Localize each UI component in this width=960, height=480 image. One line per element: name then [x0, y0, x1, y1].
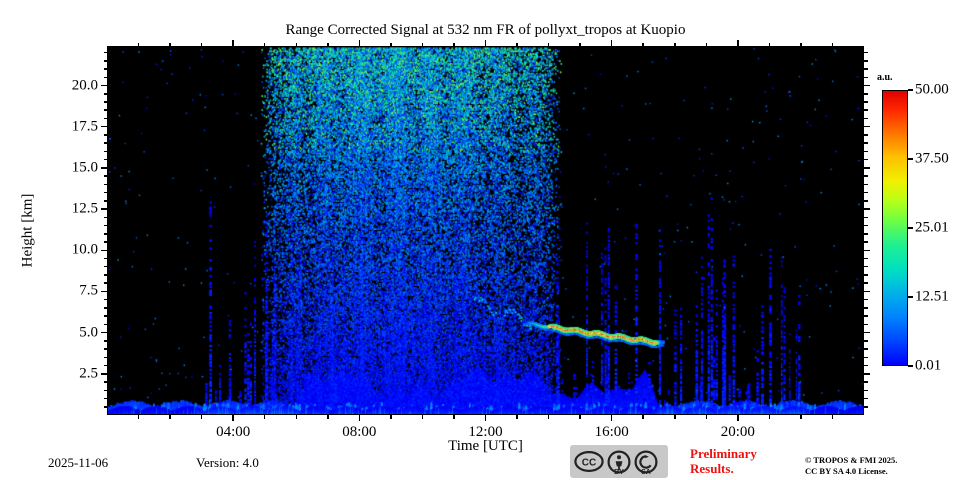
y-tick-minor — [104, 200, 108, 202]
y-tick-minor — [104, 93, 108, 95]
x-tick-minor — [832, 415, 834, 419]
y-tick-minor — [864, 184, 868, 186]
x-tick-minor — [264, 43, 266, 47]
y-tick-minor — [104, 324, 108, 326]
y-tick-minor — [864, 175, 868, 177]
x-tick-minor — [769, 43, 771, 47]
x-tick-major — [485, 415, 487, 421]
y-tick-minor — [104, 77, 108, 79]
y-tick-minor — [104, 307, 108, 309]
y-tick-minor — [104, 192, 108, 194]
x-tick-minor — [422, 415, 424, 419]
x-tick-minor — [390, 43, 392, 47]
y-tick-major — [101, 167, 107, 169]
colorbar-tick — [908, 227, 913, 229]
cc-sa-label: SA — [641, 469, 651, 476]
x-tick-major — [232, 40, 234, 46]
y-tick-minor — [864, 282, 868, 284]
y-tick-minor — [864, 315, 868, 317]
colorbar-tick-label: 12.51 — [915, 288, 949, 305]
y-tick-minor — [864, 340, 868, 342]
y-tick-minor — [104, 217, 108, 219]
x-tick-minor — [169, 415, 171, 419]
y-tick-minor — [864, 60, 868, 62]
y-tick-minor — [104, 365, 108, 367]
y-tick-minor — [864, 299, 868, 301]
y-tick-minor — [104, 142, 108, 144]
y-tick-minor — [864, 151, 868, 153]
x-tick-major — [359, 40, 361, 46]
plot-area — [107, 46, 864, 415]
y-tick-minor — [104, 315, 108, 317]
y-tick-minor — [864, 101, 868, 103]
x-tick-minor — [548, 415, 550, 419]
y-tick-minor — [104, 175, 108, 177]
x-tick-minor — [264, 415, 266, 419]
x-tick-minor — [642, 415, 644, 419]
y-tick-minor — [864, 348, 868, 350]
x-tick-minor — [516, 415, 518, 419]
lidar-quicklook-figure: Range Corrected Signal at 532 nm FR of p… — [0, 0, 960, 480]
x-tick-major — [611, 40, 613, 46]
y-tick-label: 10.0 — [72, 242, 98, 259]
y-tick-minor — [864, 134, 868, 136]
y-axis-title-label: Height [km] — [20, 194, 37, 268]
y-tick-minor — [864, 159, 868, 161]
colorbar-tick — [908, 296, 913, 298]
x-tick-minor — [769, 415, 771, 419]
y-tick-minor — [104, 159, 108, 161]
y-tick-minor — [104, 118, 108, 120]
y-tick-minor — [104, 274, 108, 276]
x-tick-major — [737, 415, 739, 421]
x-tick-minor — [832, 43, 834, 47]
x-tick-minor — [296, 415, 298, 419]
y-tick-minor — [864, 258, 868, 260]
x-tick-minor — [453, 415, 455, 419]
y-tick-label: 15.0 — [72, 159, 98, 176]
x-tick-minor — [296, 43, 298, 47]
x-tick-major — [232, 415, 234, 421]
y-tick-label: 20.0 — [72, 77, 98, 94]
x-tick-minor — [800, 415, 802, 419]
y-tick-minor — [104, 340, 108, 342]
y-tick-label: 7.5 — [79, 283, 98, 300]
x-tick-minor — [800, 43, 802, 47]
copyright-line-2: CC BY SA 4.0 License. — [805, 466, 897, 477]
x-tick-major — [611, 415, 613, 421]
y-tick-minor — [104, 266, 108, 268]
y-tick-minor — [104, 258, 108, 260]
x-tick-minor — [327, 415, 329, 419]
y-tick-major — [101, 85, 107, 87]
cc-circle-icon: CC — [574, 451, 604, 472]
x-tick-major — [737, 40, 739, 46]
x-tick-minor — [706, 415, 708, 419]
x-tick-minor — [453, 43, 455, 47]
x-tick-minor — [674, 43, 676, 47]
y-tick-minor — [864, 233, 868, 235]
x-tick-minor — [548, 43, 550, 47]
y-tick-minor — [864, 52, 868, 54]
y-tick-minor — [104, 282, 108, 284]
y-tick-minor — [864, 365, 868, 367]
page-title: Range Corrected Signal at 532 nm FR of p… — [107, 22, 864, 39]
x-tick-minor — [138, 43, 140, 47]
heatmap-canvas — [108, 47, 864, 415]
y-tick-minor — [864, 241, 868, 243]
y-tick-minor — [104, 233, 108, 235]
x-tick-minor — [201, 43, 203, 47]
y-tick-minor — [104, 390, 108, 392]
y-tick-minor — [864, 77, 868, 79]
cc-logo-icon: CC — [574, 451, 604, 472]
y-tick-minor — [864, 109, 868, 111]
colorbar — [882, 90, 908, 366]
y-tick-major — [101, 208, 107, 210]
y-tick-minor — [104, 398, 108, 400]
y-tick-minor — [864, 307, 868, 309]
y-tick-minor — [104, 299, 108, 301]
y-tick-major — [864, 373, 870, 375]
y-tick-minor — [104, 225, 108, 227]
x-tick-minor — [579, 43, 581, 47]
y-tick-minor — [104, 109, 108, 111]
y-axis-title: Height [km] — [18, 46, 38, 415]
preliminary-line-1: Preliminary — [690, 447, 776, 462]
y-tick-minor — [864, 381, 868, 383]
x-tick-minor — [422, 43, 424, 47]
y-tick-minor — [864, 217, 868, 219]
y-tick-major — [864, 126, 870, 128]
y-tick-label: 2.5 — [79, 365, 98, 382]
colorbar-unit-label: a.u. — [877, 72, 893, 83]
y-tick-minor — [864, 200, 868, 202]
y-tick-minor — [104, 406, 108, 408]
x-tick-minor — [327, 43, 329, 47]
footer-version: Version: 4.0 — [196, 455, 259, 471]
y-tick-major — [101, 291, 107, 293]
y-tick-minor — [104, 184, 108, 186]
x-tick-minor — [642, 43, 644, 47]
y-tick-minor — [864, 274, 868, 276]
y-tick-minor — [104, 357, 108, 359]
x-tick-minor — [169, 43, 171, 47]
y-tick-major — [101, 373, 107, 375]
x-tick-minor — [516, 43, 518, 47]
y-tick-minor — [864, 192, 868, 194]
colorbar-tick-label: 0.01 — [915, 358, 941, 375]
y-tick-minor — [864, 406, 868, 408]
y-tick-minor — [864, 68, 868, 70]
y-tick-minor — [864, 266, 868, 268]
y-tick-minor — [104, 381, 108, 383]
y-tick-minor — [864, 142, 868, 144]
y-tick-minor — [864, 357, 868, 359]
y-tick-major — [864, 167, 870, 169]
y-tick-major — [101, 250, 107, 252]
x-tick-minor — [579, 415, 581, 419]
y-tick-minor — [864, 118, 868, 120]
colorbar-tick — [908, 365, 913, 367]
colorbar-tick-label: 50.00 — [915, 82, 949, 99]
y-tick-minor — [104, 151, 108, 153]
y-tick-major — [864, 332, 870, 334]
y-tick-major — [864, 291, 870, 293]
y-tick-label: 5.0 — [79, 324, 98, 341]
svg-text:CC: CC — [582, 457, 596, 468]
footer-date: 2025-11-06 — [48, 455, 108, 471]
x-tick-minor — [706, 43, 708, 47]
y-tick-label: 17.5 — [72, 118, 98, 135]
colorbar-gradient — [882, 90, 908, 366]
cc-by-label: BY — [614, 469, 624, 476]
y-tick-minor — [864, 225, 868, 227]
y-tick-major — [864, 250, 870, 252]
y-tick-label: 12.5 — [72, 201, 98, 218]
cc-license-badge[interactable]: CC BY SA — [570, 445, 668, 478]
y-tick-minor — [104, 101, 108, 103]
copyright-line-1: © TROPOS & FMI 2025. — [805, 455, 897, 466]
y-tick-minor — [864, 390, 868, 392]
colorbar-tick-label: 25.01 — [915, 219, 949, 236]
y-tick-minor — [104, 68, 108, 70]
y-tick-major — [101, 332, 107, 334]
y-tick-minor — [864, 398, 868, 400]
y-tick-major — [864, 85, 870, 87]
cc-by-icon: BY — [607, 450, 631, 474]
copyright-notice: © TROPOS & FMI 2025. CC BY SA 4.0 Licens… — [805, 455, 897, 478]
x-tick-minor — [674, 415, 676, 419]
x-tick-minor — [390, 415, 392, 419]
colorbar-tick — [908, 158, 913, 160]
x-tick-minor — [201, 415, 203, 419]
y-tick-major — [864, 208, 870, 210]
y-tick-minor — [864, 324, 868, 326]
y-tick-minor — [104, 52, 108, 54]
x-tick-minor — [138, 415, 140, 419]
preliminary-results-notice: Preliminary Results. — [690, 447, 776, 477]
y-tick-minor — [104, 60, 108, 62]
y-tick-minor — [104, 134, 108, 136]
preliminary-line-2: Results. — [690, 462, 776, 477]
x-tick-major — [485, 40, 487, 46]
y-tick-major — [101, 126, 107, 128]
y-tick-minor — [104, 348, 108, 350]
y-tick-minor — [864, 93, 868, 95]
colorbar-tick-label: 37.50 — [915, 151, 949, 168]
y-tick-minor — [104, 241, 108, 243]
cc-sa-icon: SA — [634, 450, 658, 474]
colorbar-tick — [908, 89, 913, 91]
x-tick-major — [359, 415, 361, 421]
